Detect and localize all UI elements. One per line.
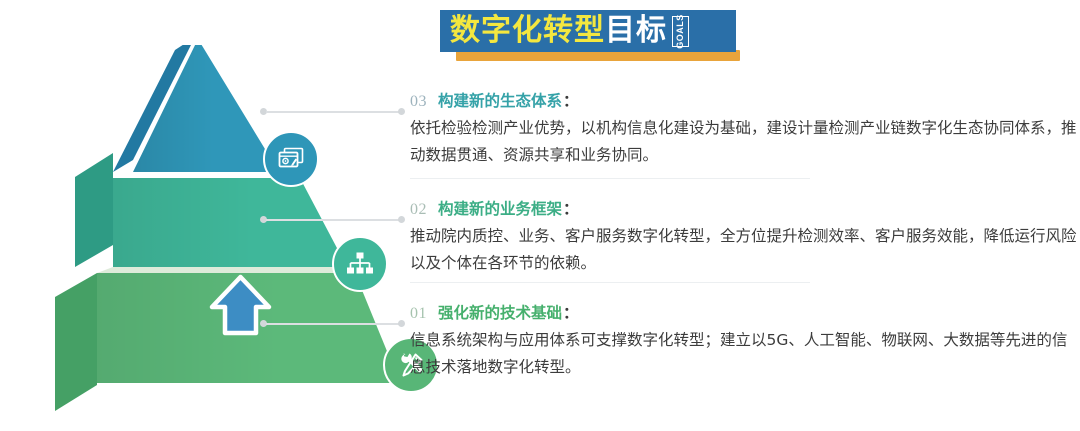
- connector-line-02: [260, 216, 405, 223]
- goal-number-01: 01: [410, 300, 427, 327]
- goal-headline-03: 03 构建新的生态体系 ： 依托检验检测产业优势，以机构信息化建设为基础，建设计…: [410, 88, 1080, 169]
- connector-bar: [266, 219, 399, 221]
- goal-colon-03: ：: [563, 88, 579, 115]
- goal-colon-02: ：: [563, 196, 579, 223]
- goals-list: 03 构建新的生态体系 ： 依托检验检测产业优势，以机构信息化建设为基础，建设计…: [250, 0, 1080, 431]
- goal-heading-03: 构建新的生态体系: [438, 88, 562, 115]
- goal-colon-01: ：: [563, 300, 579, 327]
- connector-dot-right: [398, 108, 405, 115]
- goal-text-03: 依托检验检测产业优势，以机构信息化建设为基础，建设计量检测产业链数字化生态协同体…: [410, 115, 1080, 169]
- goal-body-01: 01 强化新的技术基础 ： 信息系统架构与应用体系可支撑数字化转型；建立以5G、…: [410, 300, 1080, 381]
- goal-divider-1: [410, 178, 810, 179]
- connector-bar: [266, 111, 399, 113]
- pyramid-tier-bottom-side: [55, 273, 97, 411]
- goal-body-03: 03 构建新的生态体系 ： 依托检验检测产业优势，以机构信息化建设为基础，建设计…: [410, 88, 1080, 169]
- connector-bar: [266, 323, 399, 325]
- connector-dot-right: [398, 216, 405, 223]
- goal-number-02: 02: [410, 196, 427, 223]
- connector-line-01: [260, 320, 405, 327]
- goal-number-03: 03: [410, 88, 427, 115]
- goal-divider-2: [410, 282, 810, 283]
- goal-headline-02: 02 构建新的业务框架 ： 推动院内质控、业务、客户服务数字化转型，全方位提升检…: [410, 196, 1080, 277]
- goal-text-02: 推动院内质控、业务、客户服务数字化转型，全方位提升检测效率、客户服务效能，降低运…: [410, 223, 1080, 277]
- infographic-canvas: 数字化转型 目标 GOALS: [0, 0, 1080, 431]
- pyramid-tier-middle-side: [75, 153, 113, 267]
- goal-body-02: 02 构建新的业务框架 ： 推动院内质控、业务、客户服务数字化转型，全方位提升检…: [410, 196, 1080, 277]
- goal-text-01: 信息系统架构与应用体系可支撑数字化转型；建立以5G、人工智能、物联网、大数据等先…: [410, 327, 1080, 381]
- connector-line-03: [260, 108, 405, 115]
- connector-dot-right: [398, 320, 405, 327]
- goal-heading-01: 强化新的技术基础: [438, 300, 562, 327]
- goal-heading-02: 构建新的业务框架: [438, 196, 562, 223]
- goal-headline-01: 01 强化新的技术基础 ： 信息系统架构与应用体系可支撑数字化转型；建立以5G、…: [410, 300, 1080, 381]
